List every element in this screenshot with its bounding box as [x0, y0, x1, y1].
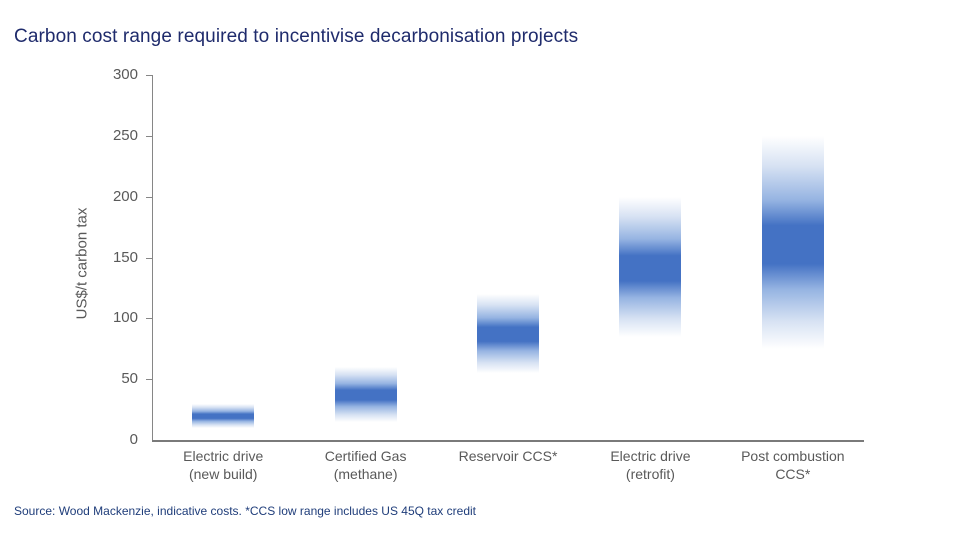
range-bar [477, 294, 539, 373]
category-label-line: Reservoir CCS* [437, 447, 579, 465]
category-label-line: Certified Gas [294, 447, 436, 465]
x-axis-category-labels: Electric drive(new build)Certified Gas(m… [152, 447, 864, 497]
category-label-line: Electric drive [579, 447, 721, 465]
range-bar [619, 197, 681, 337]
range-bar [192, 404, 254, 428]
category-label-3: Electric drive(retrofit) [579, 447, 721, 497]
category-label-line: Electric drive [152, 447, 294, 465]
source-note: Source: Wood Mackenzie, indicative costs… [14, 504, 476, 518]
category-label-4: Post combustionCCS* [722, 447, 864, 497]
chart-plot-area: US$/t carbon tax 050100150200250300 Elec… [0, 0, 960, 540]
category-label-line: Post combustion [722, 447, 864, 465]
category-label-line: (new build) [152, 465, 294, 483]
category-label-2: Reservoir CCS* [437, 447, 579, 497]
category-label-line: (retrofit) [579, 465, 721, 483]
category-label-0: Electric drive(new build) [152, 447, 294, 497]
range-bar [335, 367, 397, 422]
category-label-1: Certified Gas(methane) [294, 447, 436, 497]
category-label-line: (methane) [294, 465, 436, 483]
category-label-line: CCS* [722, 465, 864, 483]
range-bar [762, 136, 824, 349]
